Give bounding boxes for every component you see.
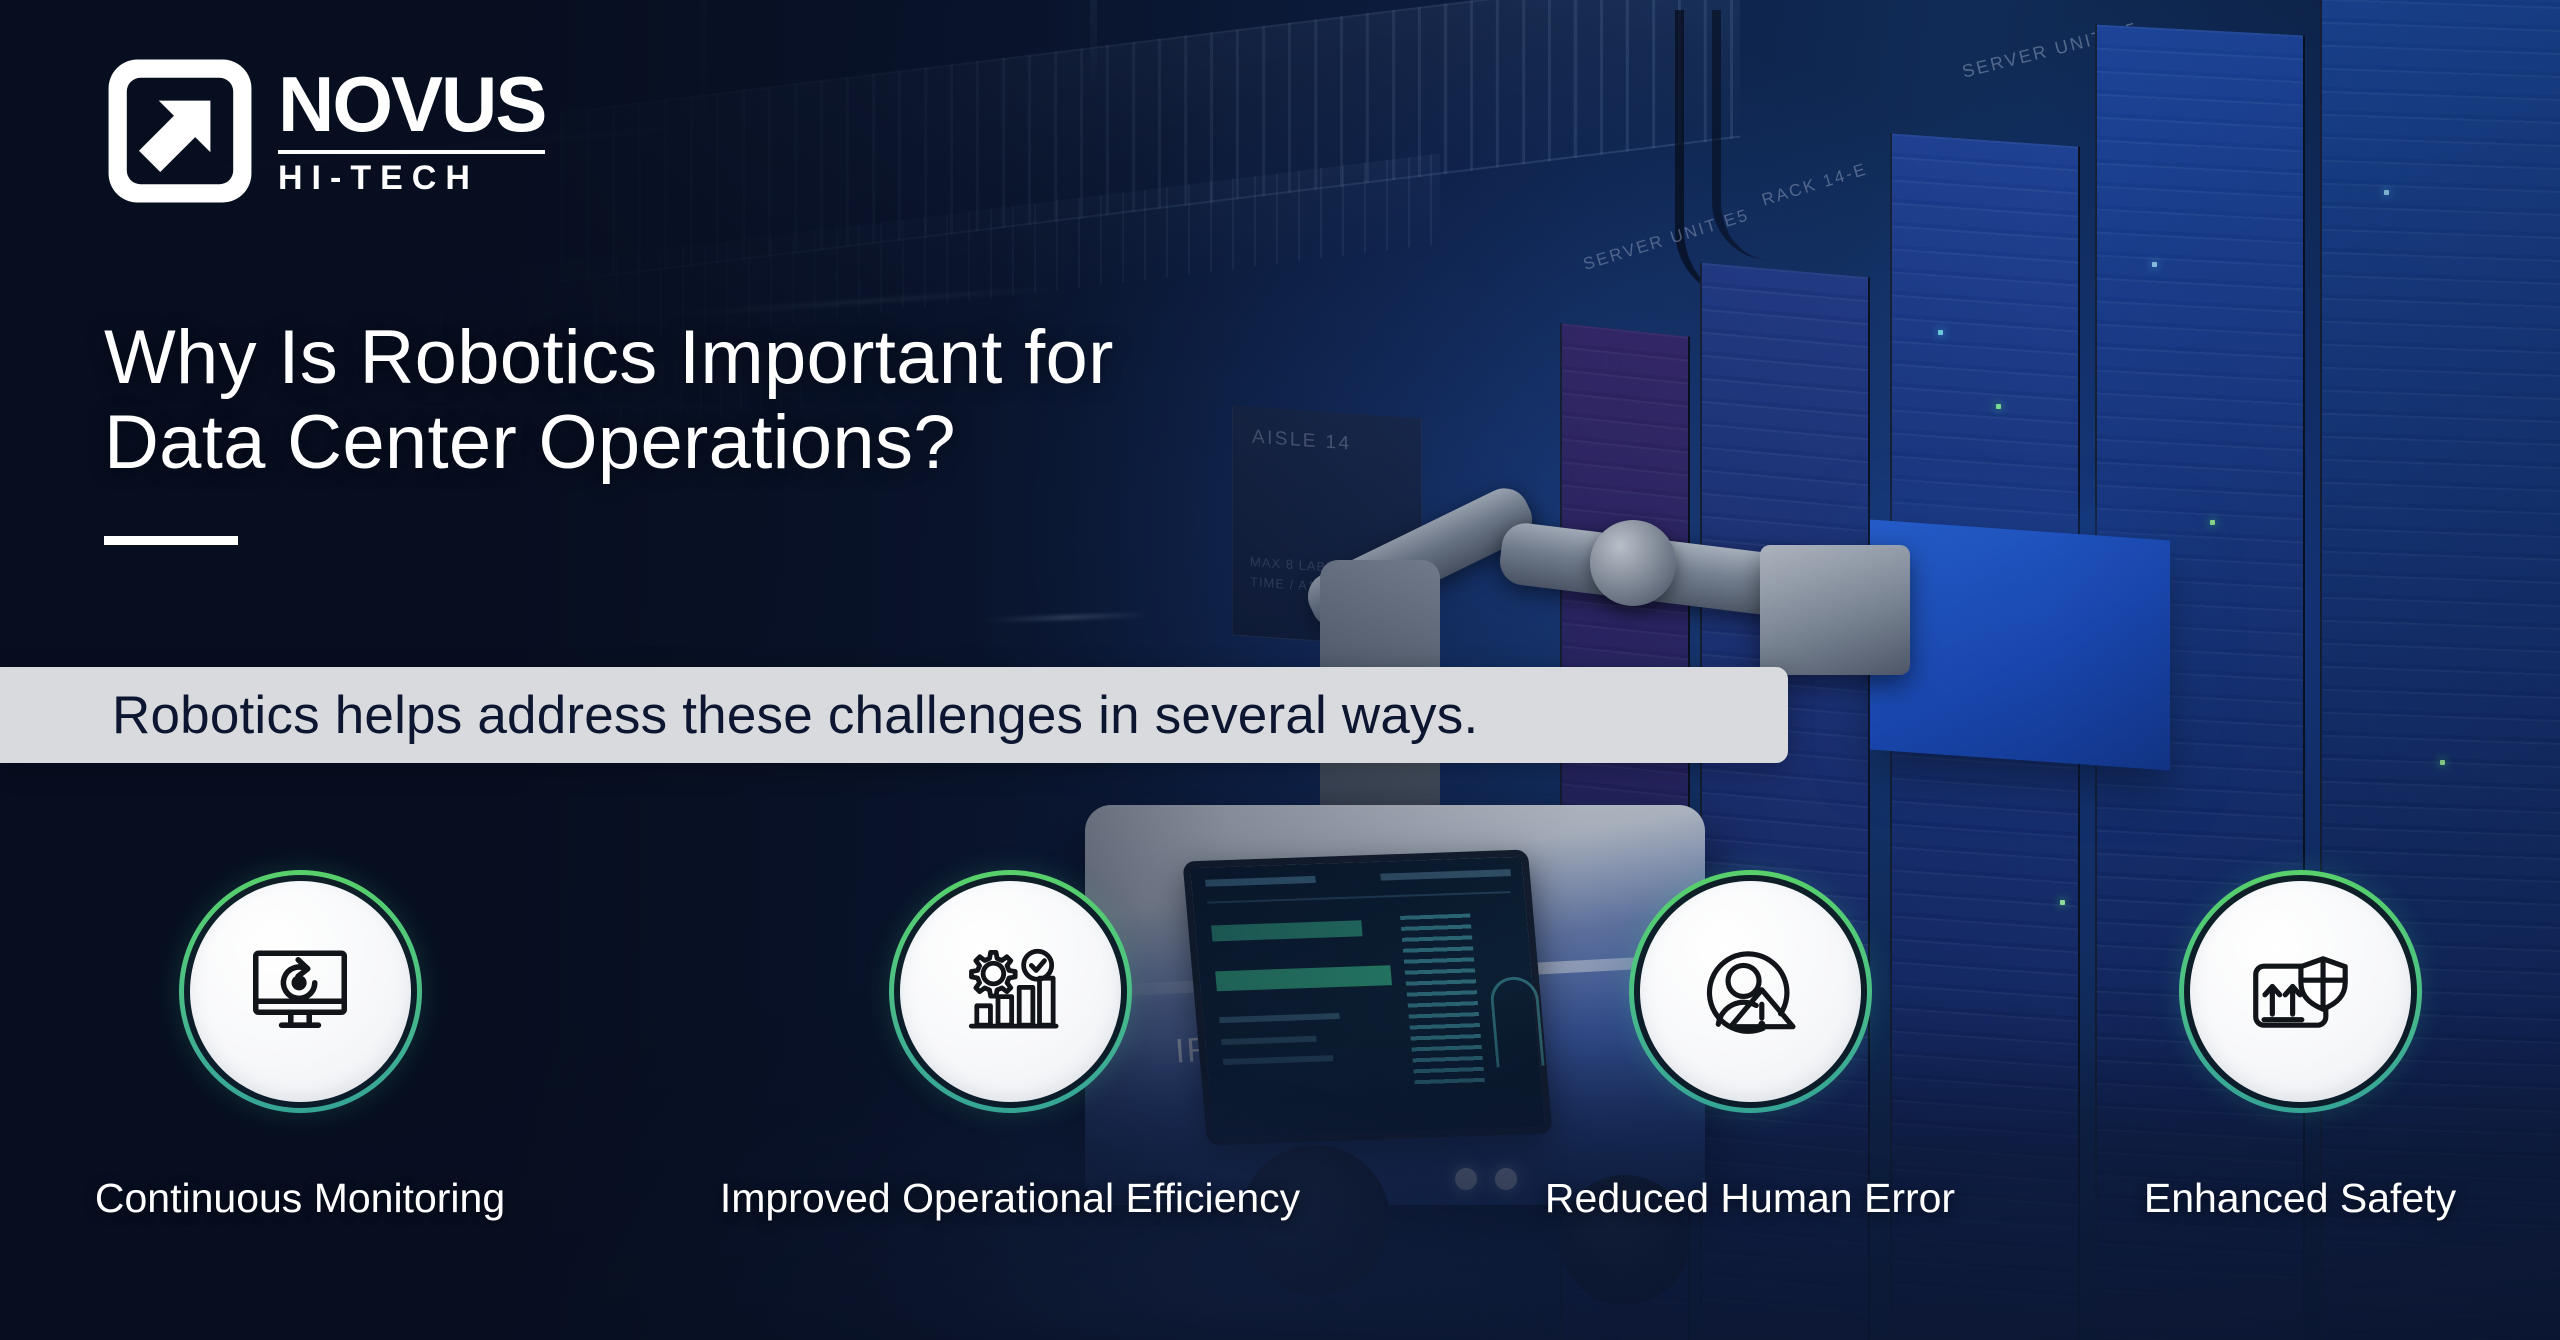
gear-bar-chart-check-icon [951,933,1069,1051]
brand-logo[interactable]: NOVUS HI-TECH [104,55,545,207]
infographic-slide: AISLE 14 MAX 8 LABELD / BRAND TIME / A1-… [0,0,2560,1340]
feature-label: Reduced Human Error [1545,1175,1955,1222]
feature-icon-ring [179,870,422,1113]
brand-wordmark: NOVUS HI-TECH [278,55,545,195]
feature-icon-ring [1629,870,1872,1113]
user-warning-icon [1691,933,1809,1051]
page-title-line-1: Why Is Robotics Important for [104,315,1114,400]
subtitle-banner: Robotics helps address these challenges … [0,667,1788,763]
page-title-line-2: Data Center Operations? [104,400,1114,485]
feature-label: Enhanced Safety [2144,1175,2456,1222]
feature-icon-ring [2179,870,2422,1113]
feature-icon-ring [889,870,1132,1113]
feature-label: Improved Operational Efficiency [720,1175,1300,1222]
brand-tagline: HI-TECH [278,161,545,195]
feature-icon-disc [900,881,1121,1102]
subtitle-text: Robotics helps address these challenges … [112,685,1478,746]
arrow-up-right-in-rounded-square-icon [104,55,256,207]
feature-item-reduced-human-error[interactable]: Reduced Human Error [1540,870,1960,1222]
feature-item-improved-operational-efficiency[interactable]: Improved Operational Efficiency [800,870,1220,1222]
package-shield-icon [2241,933,2359,1051]
feature-item-continuous-monitoring[interactable]: Continuous Monitoring [90,870,510,1222]
slide-content: NOVUS HI-TECH Why Is Robotics Important … [0,0,2560,1340]
feature-icon-disc [1640,881,1861,1102]
page-title: Why Is Robotics Important for Data Cente… [104,315,1114,485]
brand-name: NOVUS [278,69,545,141]
feature-row: Continuous Monitoring [0,870,2560,1270]
feature-item-enhanced-safety[interactable]: Enhanced Safety [2090,870,2510,1222]
feature-icon-disc [2190,881,2411,1102]
brand-rule [278,150,545,154]
title-underline-accent [104,536,238,545]
monitor-refresh-icon [241,933,359,1051]
feature-icon-disc [190,881,411,1102]
feature-label: Continuous Monitoring [95,1175,505,1222]
